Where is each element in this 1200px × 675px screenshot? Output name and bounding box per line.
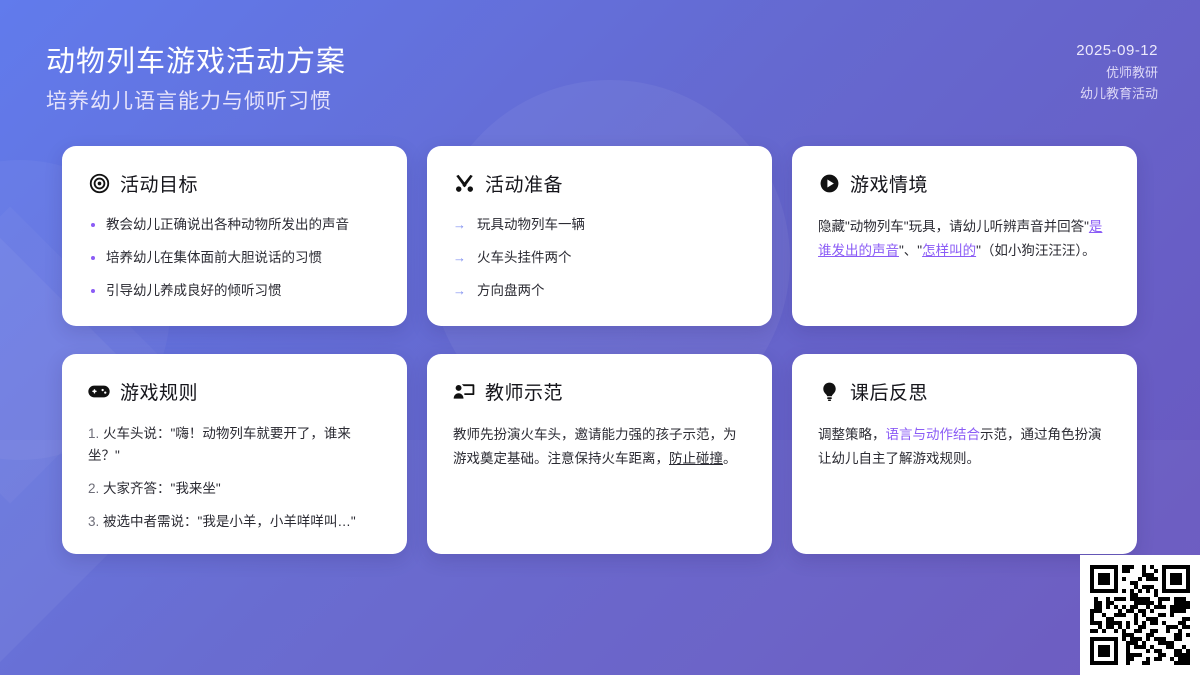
list-item: 方向盘两个	[453, 281, 746, 301]
list-item: 玩具动物列车一辆	[453, 215, 746, 235]
header-meta-group: 2025-09-12 优师教研 幼儿教育活动	[1076, 40, 1158, 104]
card-teacher-demo: 教师示范教师先扮演火车头，邀请能力强的孩子示范，为游戏奠定基础。注意保持火车距离…	[427, 354, 772, 554]
card-grid: 活动目标教会幼儿正确说出各种动物所发出的声音培养幼儿在集体面前大胆说话的习惯引导…	[62, 146, 1143, 554]
inline-text: 调整策略，	[818, 427, 886, 442]
card-game-scenario: 游戏情境隐藏"动物列车"玩具，请幼儿听辨声音并回答"是谁发出的声音"、"怎样叫的…	[792, 146, 1137, 326]
inline-text: "、"	[899, 243, 922, 258]
gamepad-icon	[88, 381, 110, 403]
card-title: 活动准备	[485, 170, 563, 197]
list-item: 火车头挂件两个	[453, 248, 746, 268]
list-item: 火车头说："嗨！动物列车就要开了，谁来坐？"	[88, 423, 381, 467]
card-list: 玩具动物列车一辆火车头挂件两个方向盘两个	[453, 215, 746, 301]
slide-root: 动物列车游戏活动方案 培养幼儿语言能力与倾听习惯 2025-09-12 优师教研…	[0, 0, 1200, 675]
card-title: 教师示范	[485, 378, 563, 405]
card-title: 游戏情境	[850, 170, 928, 197]
teacher-icon	[453, 381, 475, 403]
card-header: 课后反思	[818, 378, 1111, 405]
card-header: 游戏规则	[88, 378, 381, 405]
page-title: 动物列车游戏活动方案	[46, 44, 346, 80]
target-icon	[88, 173, 110, 195]
meta-tag: 幼儿教育活动	[1076, 83, 1158, 104]
card-paragraph: 隐藏"动物列车"玩具，请幼儿听辨声音并回答"是谁发出的声音"、"怎样叫的"（如小…	[818, 215, 1111, 263]
card-list: 教会幼儿正确说出各种动物所发出的声音培养幼儿在集体面前大胆说话的习惯引导幼儿养成…	[88, 215, 381, 301]
qr-code-icon	[1090, 565, 1190, 665]
card-activity-goals: 活动目标教会幼儿正确说出各种动物所发出的声音培养幼儿在集体面前大胆说话的习惯引导…	[62, 146, 407, 326]
card-header: 活动准备	[453, 170, 746, 197]
lightbulb-icon	[818, 381, 840, 403]
card-header: 游戏情境	[818, 170, 1111, 197]
card-activity-preparation: 活动准备玩具动物列车一辆火车头挂件两个方向盘两个	[427, 146, 772, 326]
list-item: 教会幼儿正确说出各种动物所发出的声音	[88, 215, 381, 235]
inline-text: 隐藏"动物列车"玩具，请幼儿听辨声音并回答"	[818, 219, 1089, 234]
card-ordered-list: 火车头说："嗨！动物列车就要开了，谁来坐？"大家齐答："我来坐"被选中者需说："…	[88, 423, 381, 533]
play-icon	[818, 173, 840, 195]
card-title: 游戏规则	[120, 378, 198, 405]
slide-header: 动物列车游戏活动方案 培养幼儿语言能力与倾听习惯 2025-09-12 优师教研…	[0, 0, 1200, 140]
meta-date: 2025-09-12	[1076, 40, 1158, 62]
inline-highlight: 语言与动作结合	[886, 427, 981, 442]
inline-text: "（如小狗汪汪汪）。	[976, 243, 1096, 258]
list-item: 大家齐答："我来坐"	[88, 478, 381, 500]
list-item: 被选中者需说："我是小羊，小羊咩咩叫…"	[88, 511, 381, 533]
card-header: 教师示范	[453, 378, 746, 405]
card-title: 活动目标	[120, 170, 198, 197]
card-paragraph: 教师先扮演火车头，邀请能力强的孩子示范，为游戏奠定基础。注意保持火车距离，防止碰…	[453, 423, 746, 471]
header-title-group: 动物列车游戏活动方案 培养幼儿语言能力与倾听习惯	[46, 44, 346, 117]
inline-underline: 防止碰撞	[669, 451, 723, 466]
card-title: 课后反思	[850, 378, 928, 405]
tools-icon	[453, 173, 475, 195]
qr-code-container[interactable]	[1080, 555, 1200, 675]
card-post-class-reflection: 课后反思调整策略，语言与动作结合示范，通过角色扮演让幼儿自主了解游戏规则。	[792, 354, 1137, 554]
inline-link[interactable]: 怎样叫的	[922, 243, 976, 258]
card-paragraph: 调整策略，语言与动作结合示范，通过角色扮演让幼儿自主了解游戏规则。	[818, 423, 1111, 471]
list-item: 引导幼儿养成良好的倾听习惯	[88, 281, 381, 301]
meta-org: 优师教研	[1076, 62, 1158, 83]
card-header: 活动目标	[88, 170, 381, 197]
card-game-rules: 游戏规则火车头说："嗨！动物列车就要开了，谁来坐？"大家齐答："我来坐"被选中者…	[62, 354, 407, 554]
page-subtitle: 培养幼儿语言能力与倾听习惯	[46, 87, 346, 117]
inline-text: 。	[723, 451, 737, 466]
list-item: 培养幼儿在集体面前大胆说话的习惯	[88, 248, 381, 268]
